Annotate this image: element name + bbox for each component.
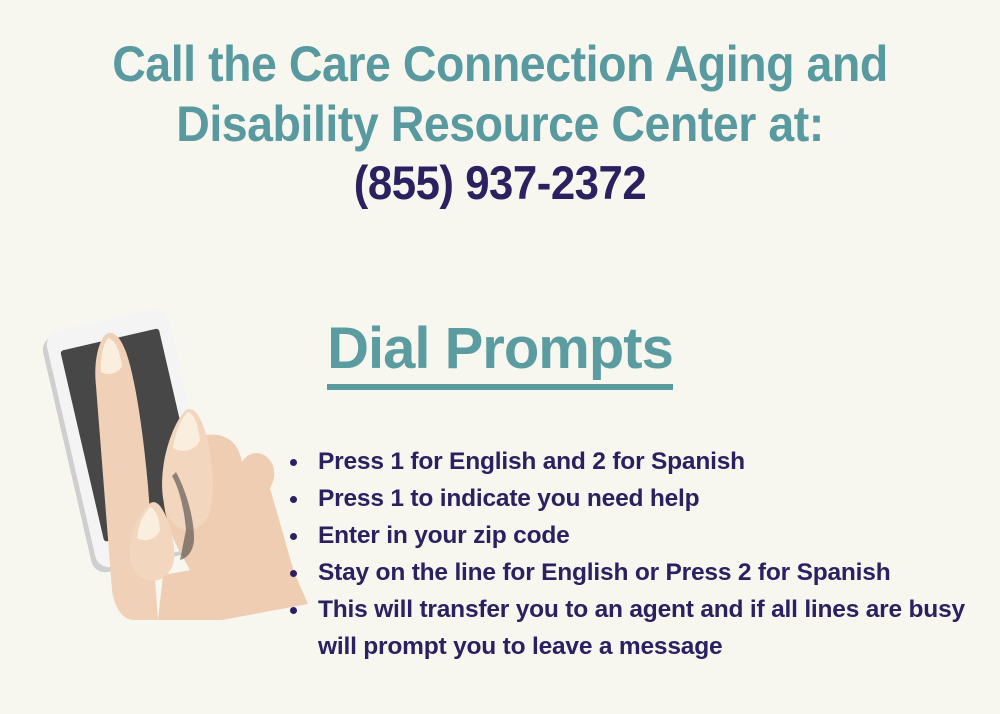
page-title-line-2: Disability Resource Center at: xyxy=(35,94,965,154)
bullet-icon xyxy=(290,459,297,466)
list-item: Press 1 to indicate you need help xyxy=(285,480,985,517)
list-item: Enter in your zip code xyxy=(285,517,985,554)
hand-holding-smartphone-icon xyxy=(8,290,308,620)
list-item: This will transfer you to an agent and i… xyxy=(285,591,985,665)
list-item-label: Press 1 to indicate you need help xyxy=(318,485,699,512)
list-item-label: Stay on the line for English or Press 2 … xyxy=(318,559,890,586)
header-block: Call the Care Connection Aging and Disab… xyxy=(0,34,1000,212)
list-item: Press 1 for English and 2 for Spanish xyxy=(285,443,985,480)
list-item-label: Press 1 for English and 2 for Spanish xyxy=(318,448,745,475)
bullet-icon xyxy=(290,496,297,503)
bullet-icon xyxy=(290,607,297,614)
bullet-icon xyxy=(290,533,297,540)
list-item: Stay on the line for English or Press 2 … xyxy=(285,554,985,591)
page-title-line-1: Call the Care Connection Aging and xyxy=(35,34,965,94)
list-item-label: This will transfer you to an agent and i… xyxy=(318,596,965,660)
poster-canvas: Call the Care Connection Aging and Disab… xyxy=(0,0,1000,714)
section-title-wrapper: Dial Prompts xyxy=(280,316,720,390)
bullet-icon xyxy=(290,570,297,577)
page-title: Call the Care Connection Aging and Disab… xyxy=(35,34,965,154)
phone-number: (855) 937-2372 xyxy=(35,154,965,212)
section-title: Dial Prompts xyxy=(327,316,673,390)
dial-prompts-list: Press 1 for English and 2 for Spanish Pr… xyxy=(285,443,985,665)
list-item-label: Enter in your zip code xyxy=(318,522,570,549)
